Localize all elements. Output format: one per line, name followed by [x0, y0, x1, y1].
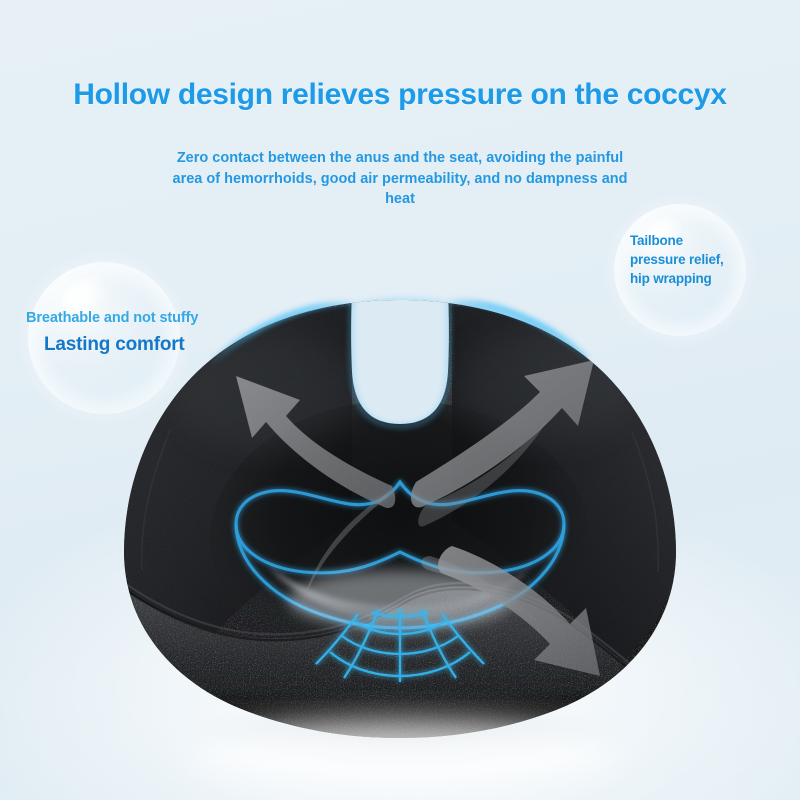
callout-breathable: Breathable and not stuffy Lasting comfor…: [26, 310, 198, 356]
callout-breathable-line2: Lasting comfort: [44, 334, 198, 356]
product-image: [0, 0, 800, 800]
callout-tailbone-line2: pressure relief,: [630, 250, 724, 269]
callout-breathable-line1: Breathable and not stuffy: [26, 310, 198, 326]
callout-tailbone-line3: hip wrapping: [630, 269, 724, 288]
cushion-floor-reflection: [194, 718, 614, 786]
callout-tailbone-line1: Tailbone: [630, 231, 724, 250]
coccyx-cutout: [351, 292, 449, 426]
cushion-illustration: [0, 0, 800, 800]
product-banner: Hollow design relieves pressure on the c…: [0, 0, 800, 800]
callout-tailbone: Tailbone pressure relief, hip wrapping: [630, 231, 724, 288]
